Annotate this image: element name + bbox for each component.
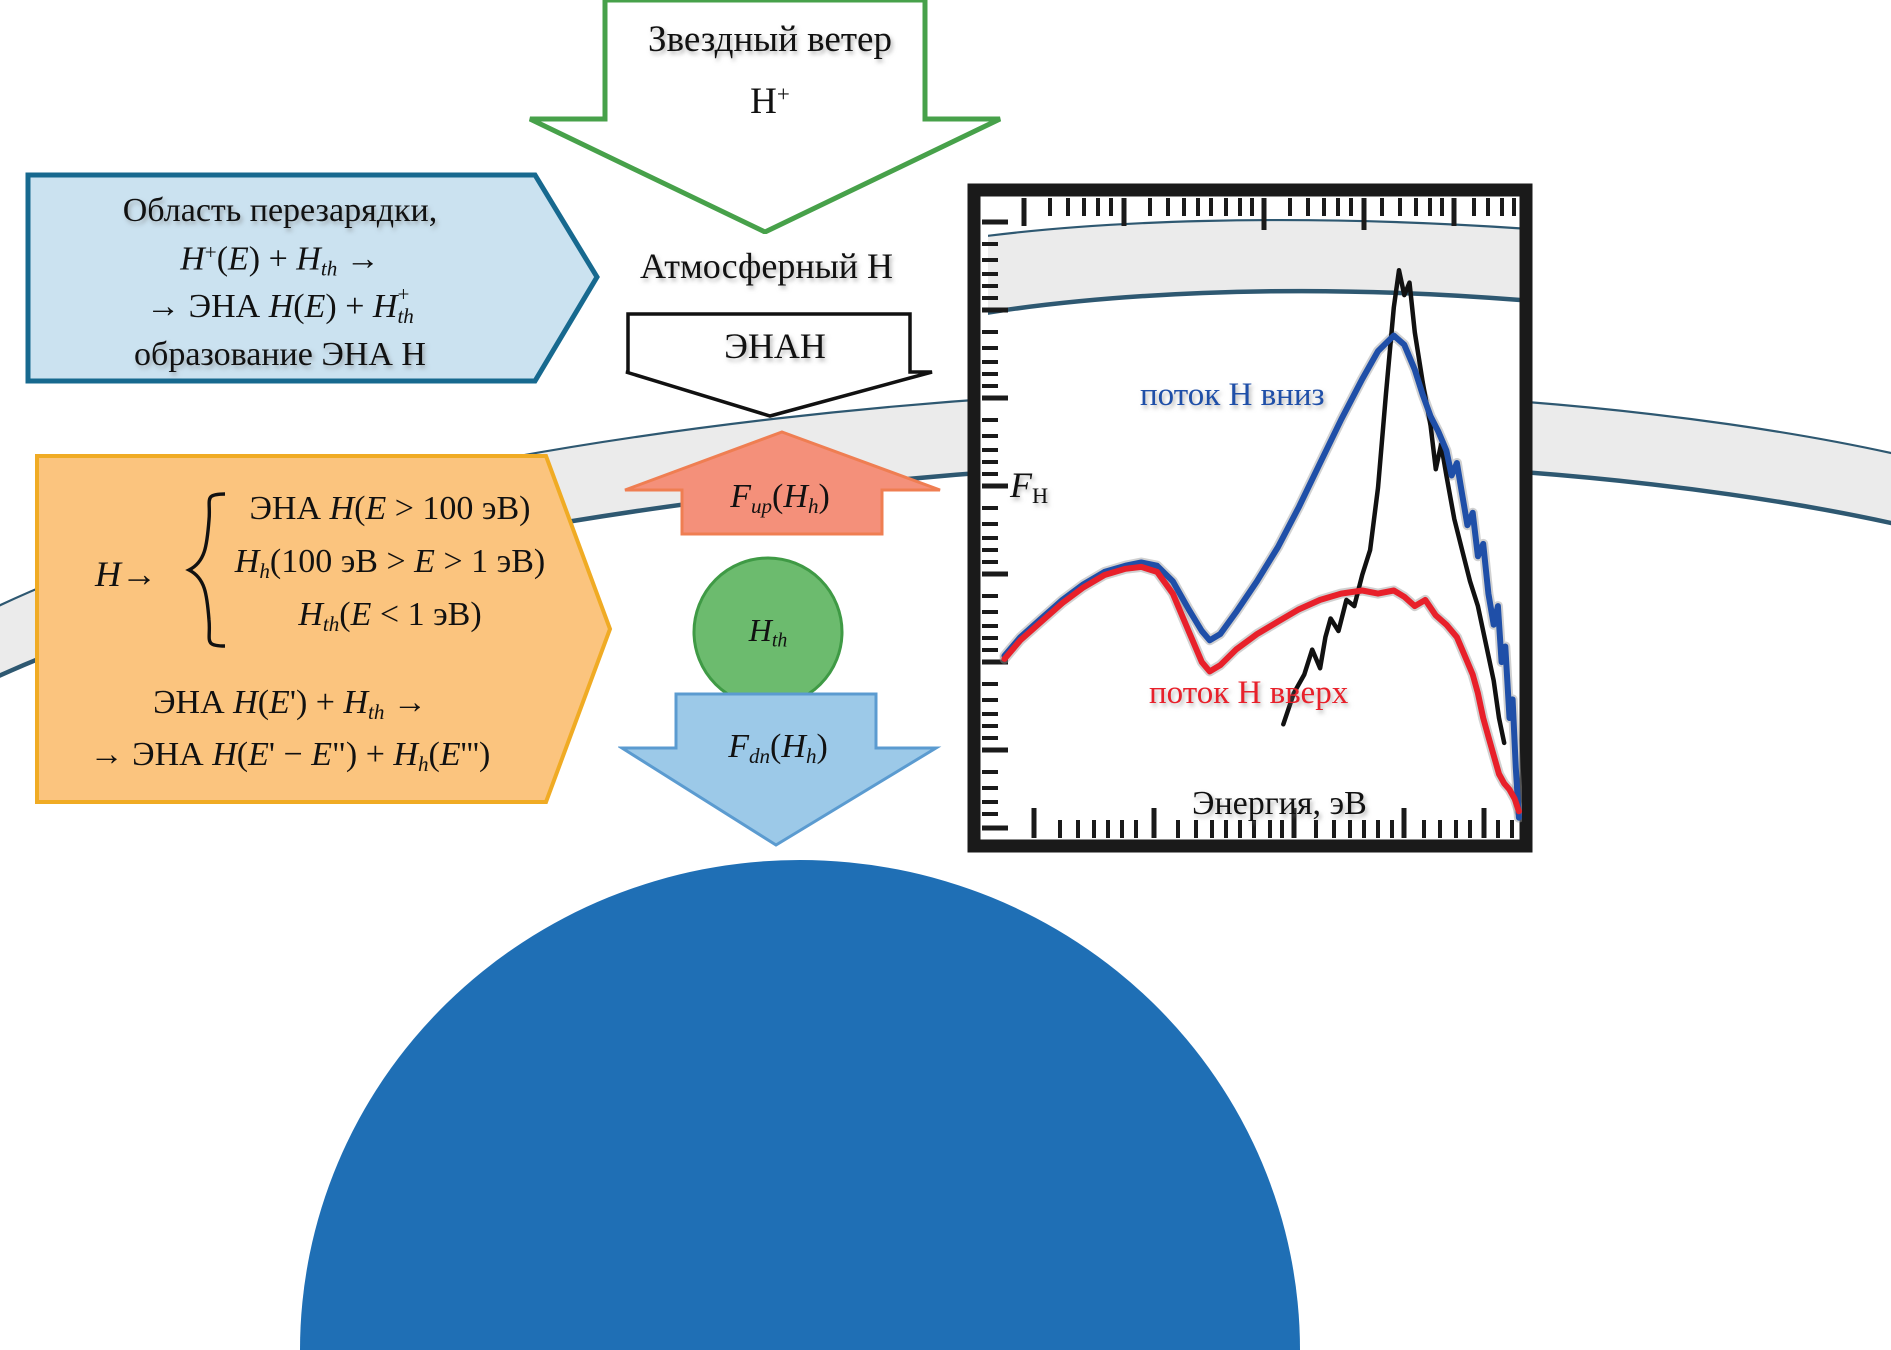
annotation-flux-down: поток H вниз [1140, 377, 1325, 414]
atmosphere-label: Атмосферный H [640, 245, 893, 287]
diagram-canvas: Звездный ветер H+ Атмосферный H ЭНАH Обл… [0, 0, 1891, 1338]
flux-up-label: Fup(Hh) [630, 478, 930, 519]
charge-exchange-line3: → ЭНА H(E) + H+th [40, 288, 520, 329]
flux-spectrum-svg [964, 182, 1534, 854]
hydrogen-lhs: H→ [95, 553, 157, 595]
star-wind-h-symbol: H [750, 81, 777, 122]
charge-exchange-line2: H+(E) + Hth → [40, 240, 520, 281]
hydrogen-brace-line-2: Hth(E < 1 эВ) [200, 596, 580, 637]
y-axis-label-base: F [1010, 465, 1032, 505]
ena-reaction-line1: ЭНА H(E') + Hth → [55, 684, 525, 725]
hydrogen-brace-line-0: ЭНА H(E > 100 эВ) [200, 490, 580, 528]
planet-body [300, 830, 1300, 1350]
hydrogen-lhs-arrow: → [121, 554, 157, 594]
flux-down-arrow [618, 690, 948, 850]
x-axis-label: Энергия, эВ [1192, 785, 1367, 823]
charge-exchange-line1: Область перезарядки, [40, 192, 520, 230]
thermal-hydrogen-label: Hth [688, 612, 848, 653]
hydrogen-lhs-symbol: H [95, 554, 121, 594]
annotation-flux-up: поток H вверх [1149, 675, 1348, 712]
y-axis-label: FH [1010, 464, 1048, 509]
flux-down-label: Fdn(Hh) [628, 728, 928, 769]
star-wind-plus-sup: + [777, 82, 790, 107]
ena-h-arrow-label: ЭНАH [620, 325, 930, 367]
star-wind-label-line2: H+ [560, 80, 980, 123]
hydrogen-brace-line-1: Hh(100 эВ > E > 1 эВ) [200, 543, 580, 584]
star-wind-label-line1: Звездный ветер [560, 18, 980, 61]
flux-spectrum-plot: FH поток H вниз поток H вверх Энергия, э… [964, 182, 1534, 854]
charge-exchange-line4: образование ЭНА H [40, 336, 520, 374]
ena-reaction-line2: → ЭНА H(E' − E") + Hh(E''') [55, 736, 525, 777]
y-axis-label-sub: H [1032, 483, 1048, 508]
